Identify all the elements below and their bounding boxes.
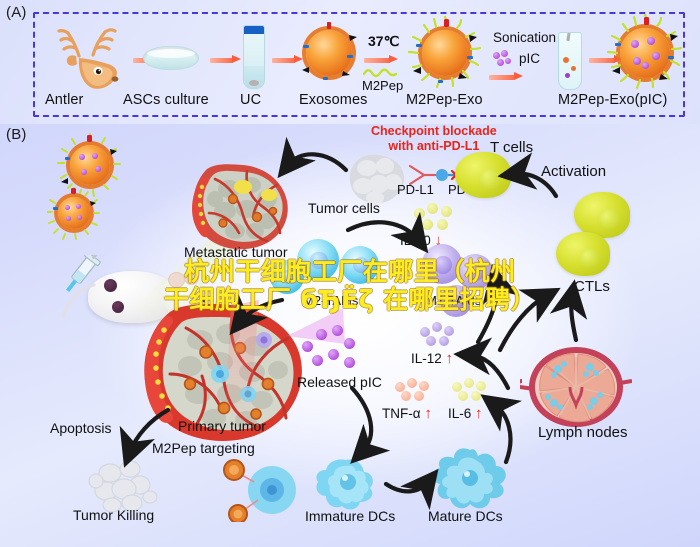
m2pep-squiggle-icon [363, 66, 403, 78]
panel-a-step-label-1: ASCs culture [123, 92, 209, 108]
primary-tumor-label: Primary tumor [178, 418, 266, 434]
exosome-pic-icon [620, 28, 670, 78]
m2pep-targeting-illustration [200, 452, 310, 522]
released-pic-label: Released pIC [297, 374, 382, 390]
temperature-label: 37℃ [368, 33, 399, 50]
panel-a-arrow-4 [489, 72, 523, 81]
panel-a-step-label-4: M2Pep-Exo [406, 92, 483, 108]
m2pep-label: M2Pep [362, 78, 403, 93]
panel-a-tag: (A) [6, 4, 27, 21]
cytokine-il-6-name: IL-6 [448, 406, 471, 421]
cytokine-il-6-arrow: ↑ [475, 405, 483, 422]
t-cell-icon [455, 152, 511, 198]
il-10-dot-cluster-icon [414, 202, 458, 234]
mature-dc-icon [430, 444, 514, 516]
pic-label: pIC [519, 51, 540, 66]
panel-a-step-label-0: Antler [45, 92, 83, 108]
panel-b-tag: (B) [6, 126, 27, 143]
panel-a-arrow-1 [210, 55, 241, 64]
pd-l1-label: PD-L1 [397, 182, 434, 197]
pic-dot-cluster-icon [492, 50, 516, 68]
t-cells-label: T cells [490, 139, 533, 156]
figure-canvas: Antler ASCs culture UC [0, 0, 700, 547]
watermark-text: 杭州干细胞工厂在哪里（杭州 干细胞工厂 бЂЁζ 在哪里招聘） [0, 258, 700, 314]
cytokine-il-12: IL-12 ↑ [411, 350, 453, 367]
tumor-killing-label: Tumor Killing [73, 507, 154, 523]
lymph-node-illustration [520, 345, 632, 430]
cytokine-il-12-arrow: ↑ [446, 350, 454, 367]
watermark-line-2: 干细胞工厂 бЂЁζ 在哪里招聘） [0, 286, 700, 314]
watermark-line-1: 杭州干细胞工厂在哪里（杭州 [0, 258, 700, 286]
sonicator-tube-icon [558, 32, 582, 90]
checkpoint-line-1: Checkpoint blockade [371, 124, 497, 138]
exosome-icon [306, 30, 352, 76]
il-6-dot-cluster-icon [452, 378, 492, 404]
activation-label: Activation [541, 163, 606, 180]
tumor-killing-illustration [88, 455, 160, 515]
petri-dish-icon [143, 46, 199, 70]
tumor-cells-label: Tumor cells [308, 200, 380, 216]
panel-a-step-label-3: Exosomes [299, 92, 368, 108]
cytokine-il-6: IL-6 ↑ [448, 405, 483, 422]
exosome-particle-icon [70, 145, 110, 185]
panel-a-arrow-3 [364, 55, 398, 64]
il-12-dot-cluster-icon [420, 322, 460, 348]
tnf-alpha-dot-cluster-icon [395, 378, 435, 404]
cytokine-tnf-alpha: TNF-α ↑ [382, 405, 432, 422]
centrifuge-tube-icon [243, 25, 265, 89]
checkpoint-line-2: with anti-PD-L1 [388, 139, 479, 153]
cytokine-il-10-name: IL-10 [400, 233, 431, 248]
panel-a-step-label-2: UC [240, 92, 261, 108]
sonication-label: Sonication [493, 30, 556, 45]
deer-icon [52, 22, 130, 92]
exosome-peptide-icon [422, 30, 468, 76]
panel-a-step-label-5: M2Pep-Exo(pIC) [558, 92, 667, 108]
exosome-particle-icon [58, 197, 90, 229]
cytokine-il-12-name: IL-12 [411, 351, 442, 366]
apoptosis-label: Apoptosis [50, 420, 111, 436]
immature-dc-icon [312, 452, 384, 514]
cytokine-tnf-alpha-name: TNF-α [382, 406, 421, 421]
panel-a: Antler ASCs culture UC [0, 0, 700, 124]
mature-dcs-label: Mature DCs [428, 508, 503, 524]
immature-dcs-label: Immature DCs [305, 508, 395, 524]
checkpoint-blockade-label: Checkpoint blockade with anti-PD-L1 [371, 124, 497, 155]
lymph-nodes-label: Lymph nodes [538, 424, 628, 441]
cytokine-tnf-alpha-arrow: ↑ [424, 405, 432, 422]
released-pic-dot-cluster-icon [300, 325, 360, 371]
